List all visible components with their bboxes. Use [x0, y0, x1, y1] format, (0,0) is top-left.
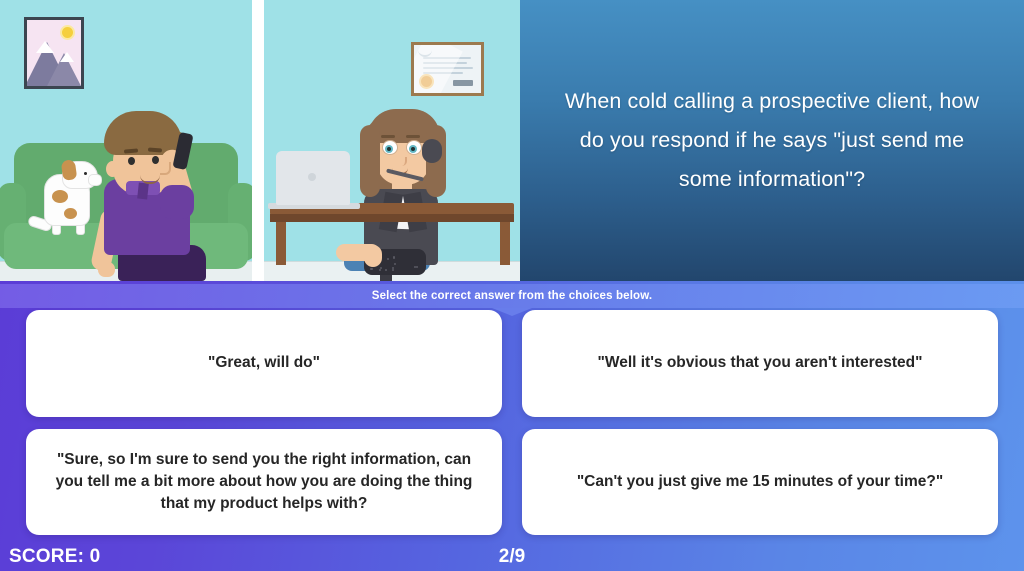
man-sleeve [160, 185, 194, 219]
answer-choice-4[interactable]: "Can't you just give me 15 minutes of yo… [522, 429, 998, 536]
sun-icon [62, 27, 73, 38]
man-hand [98, 262, 115, 277]
mountain-painting-icon [24, 17, 84, 89]
woman-forearm [364, 245, 382, 267]
woman-eyebrow [381, 135, 395, 138]
woman-pupil [411, 147, 415, 151]
media-area: When cold calling a prospective client, … [0, 0, 1024, 281]
answer-choice-2-label: "Well it's obvious that you aren't inter… [598, 352, 923, 374]
fabric-dot [393, 257, 395, 259]
fabric-dot [385, 269, 387, 271]
desk-leg [500, 217, 510, 265]
woman-pupil [387, 147, 391, 151]
answer-choice-3[interactable]: "Sure, so I'm sure to send you the right… [26, 429, 502, 536]
fabric-dot [416, 266, 418, 268]
snow-cap [36, 41, 54, 53]
instruction-text: Select the correct answer from the choic… [372, 290, 652, 302]
answer-choice-2[interactable]: "Well it's obvious that you aren't inter… [522, 310, 998, 417]
answer-choice-1-label: "Great, will do" [208, 352, 320, 374]
instruction-banner: Select the correct answer from the choic… [0, 284, 1024, 308]
man-eye [128, 157, 135, 165]
scene-woman-at-desk [264, 0, 520, 281]
desk-leg [276, 217, 286, 265]
man-nose [160, 162, 171, 175]
fabric-dot [394, 263, 396, 265]
footer-bar: SCORE: 0 2/9 [0, 537, 1024, 571]
woman-hair-strand [360, 125, 380, 197]
desk-edge [270, 214, 514, 222]
question-panel: When cold calling a prospective client, … [520, 0, 1024, 281]
dog-eye [84, 172, 87, 175]
headset-icon [422, 139, 442, 163]
fabric-dot [371, 268, 373, 270]
quiz-app: When cold calling a prospective client, … [0, 0, 1024, 571]
answer-choice-3-label: "Sure, so I'm sure to send you the right… [48, 449, 480, 515]
question-text: When cold calling a prospective client, … [552, 82, 992, 199]
dog-spot [64, 208, 77, 219]
certificate-signature [453, 80, 473, 86]
scene-man-on-couch [0, 0, 252, 281]
answer-choices: "Great, will do" "Well it's obvious that… [0, 310, 1024, 535]
answer-choice-4-label: "Can't you just give me 15 minutes of yo… [577, 471, 943, 493]
man-placket [137, 183, 149, 200]
dog-spot [52, 190, 68, 203]
fabric-dot [414, 266, 416, 268]
man-eye [152, 156, 159, 164]
dog-snout [88, 174, 102, 186]
fabric-dot [392, 269, 394, 271]
answer-choice-1[interactable]: "Great, will do" [26, 310, 502, 417]
illustration-scenes [0, 0, 520, 281]
snow-cap [60, 52, 74, 62]
fabric-dot [379, 269, 381, 271]
progress-label: 2/9 [0, 546, 1024, 568]
woman-eyebrow [406, 135, 420, 138]
certificate-frame-icon [411, 42, 484, 96]
fabric-dot [387, 258, 389, 260]
scene-divider [252, 0, 264, 281]
fabric-dot [380, 267, 382, 269]
laptop-logo [308, 173, 316, 181]
